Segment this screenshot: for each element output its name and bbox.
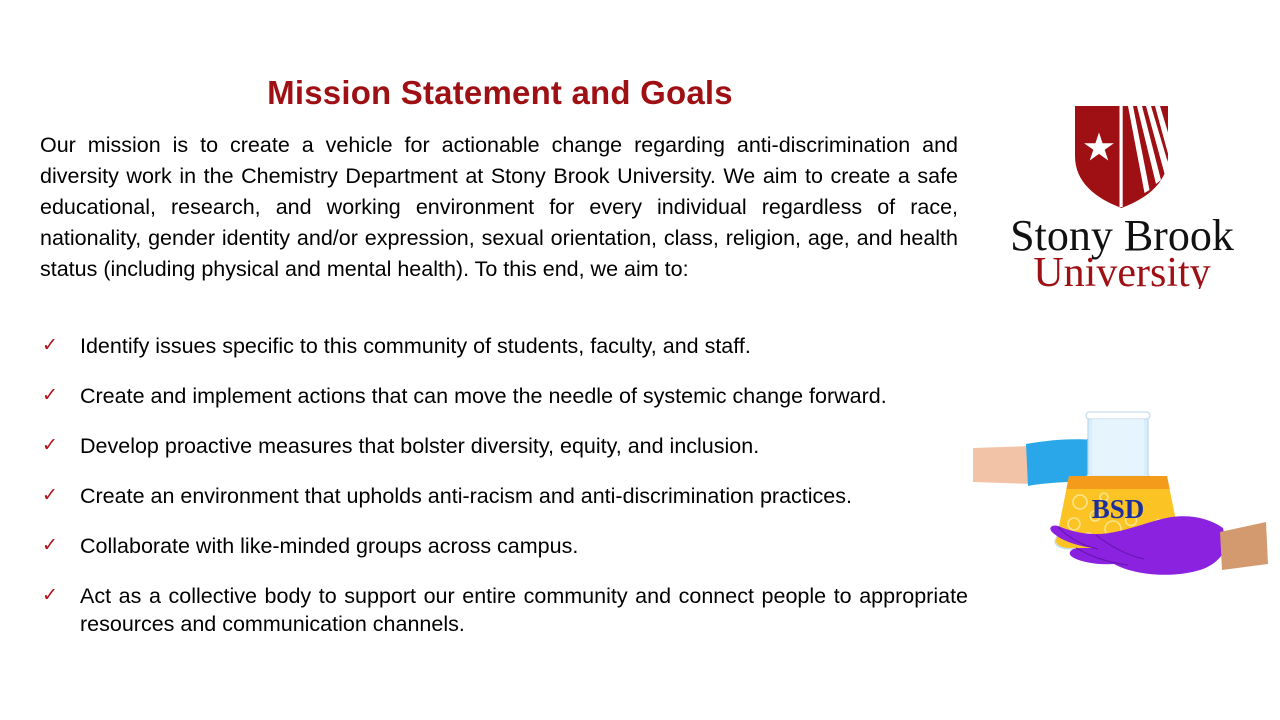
list-item: ✓ Create and implement actions that can … <box>40 382 968 410</box>
list-item: ✓ Create an environment that upholds ant… <box>40 482 968 510</box>
checkmark-icon: ✓ <box>42 331 58 359</box>
flask-label: BSD <box>1092 494 1145 524</box>
right-forearm <box>1220 522 1268 570</box>
list-item-label: Collaborate with like-minded groups acro… <box>80 534 578 558</box>
slide-canvas: Mission Statement and Goals Our mission … <box>0 0 1280 720</box>
list-item-label: Identify issues specific to this communi… <box>80 334 751 358</box>
page-title: Mission Statement and Goals <box>0 74 1000 112</box>
left-forearm <box>973 446 1032 484</box>
list-item: ✓ Develop proactive measures that bolste… <box>40 432 968 460</box>
list-item-label: Act as a collective body to support our … <box>80 584 968 636</box>
list-item-label: Create an environment that upholds anti-… <box>80 484 852 508</box>
list-item: ✓ Collaborate with like-minded groups ac… <box>40 532 968 560</box>
list-item-label: Create and implement actions that can mo… <box>80 384 887 408</box>
stony-brook-university-logo: Stony Brook University <box>1000 104 1245 289</box>
logo-line-2: University <box>1033 250 1210 289</box>
checkmark-icon: ✓ <box>42 431 58 459</box>
list-item: ✓ Identify issues specific to this commu… <box>40 332 968 360</box>
goals-list: ✓ Identify issues specific to this commu… <box>40 332 968 660</box>
list-item-label: Develop proactive measures that bolster … <box>80 434 759 458</box>
checkmark-icon: ✓ <box>42 531 58 559</box>
shield-icon <box>1075 106 1175 208</box>
checkmark-icon: ✓ <box>42 481 58 509</box>
checkmark-icon: ✓ <box>42 381 58 409</box>
list-item: ✓ Act as a collective body to support ou… <box>40 582 968 638</box>
gloved-hands-holding-flask-illustration: BSD <box>968 398 1268 593</box>
checkmark-icon: ✓ <box>42 581 58 609</box>
mission-statement-paragraph: Our mission is to create a vehicle for a… <box>40 130 958 285</box>
